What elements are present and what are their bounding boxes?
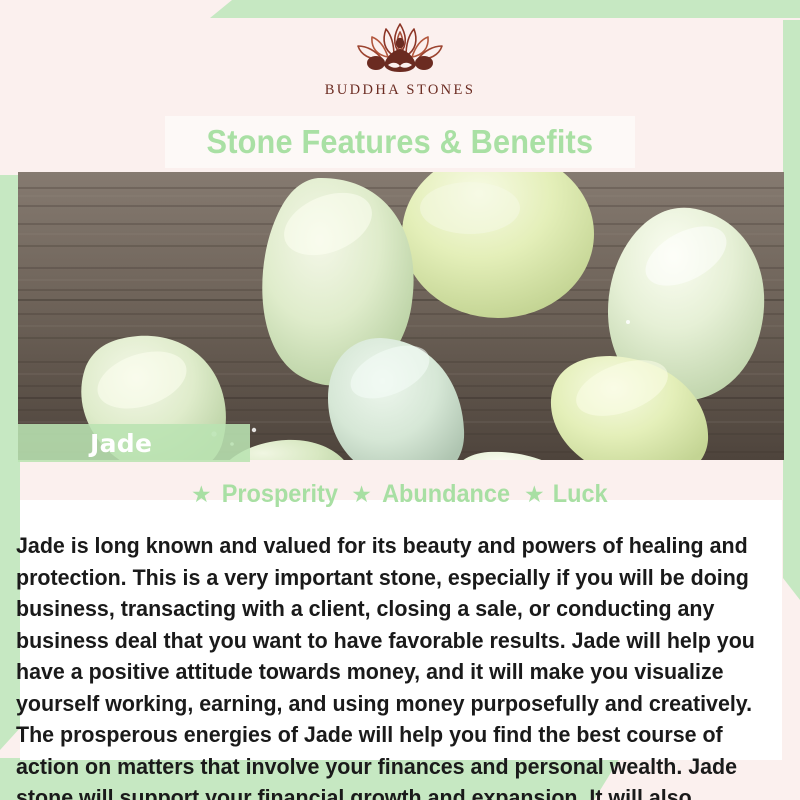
brand-logo: BUDDHA STONES [0,18,800,113]
keyword-item: ★ Prosperity [191,480,341,509]
keyword-item: ★ Luck [524,480,609,509]
keyword-item: ★ Abundance [351,480,514,509]
lotus-meditation-icon [336,18,464,80]
keyword-label: Luck [552,480,607,509]
decor-strip-left-upper [0,175,20,420]
keyword-label: Prosperity [221,480,337,509]
star-icon: ★ [524,483,545,506]
decor-band-top [210,0,800,18]
stone-name-banner: Jade [18,424,250,462]
brand-wordmark: BUDDHA STONES [325,82,476,99]
keyword-row: ★ Prosperity ★ Abundance ★ Luck [0,480,800,509]
star-icon: ★ [351,483,372,506]
keyword-label: Abundance [382,480,510,509]
description-text: Jade is long known and valued for its be… [16,530,761,800]
stone-name-label: Jade [90,429,152,458]
title-panel: Stone Features & Benefits [165,116,635,168]
description-block: Jade is long known and valued for its be… [16,508,788,800]
star-icon: ★ [191,483,212,506]
page-title: Stone Features & Benefits [207,123,594,161]
stone-photo [18,172,784,460]
jade-stones-illustration [18,172,784,460]
stone-benefits-card: BUDDHA STONES Stone Features & Benefits [0,0,800,800]
